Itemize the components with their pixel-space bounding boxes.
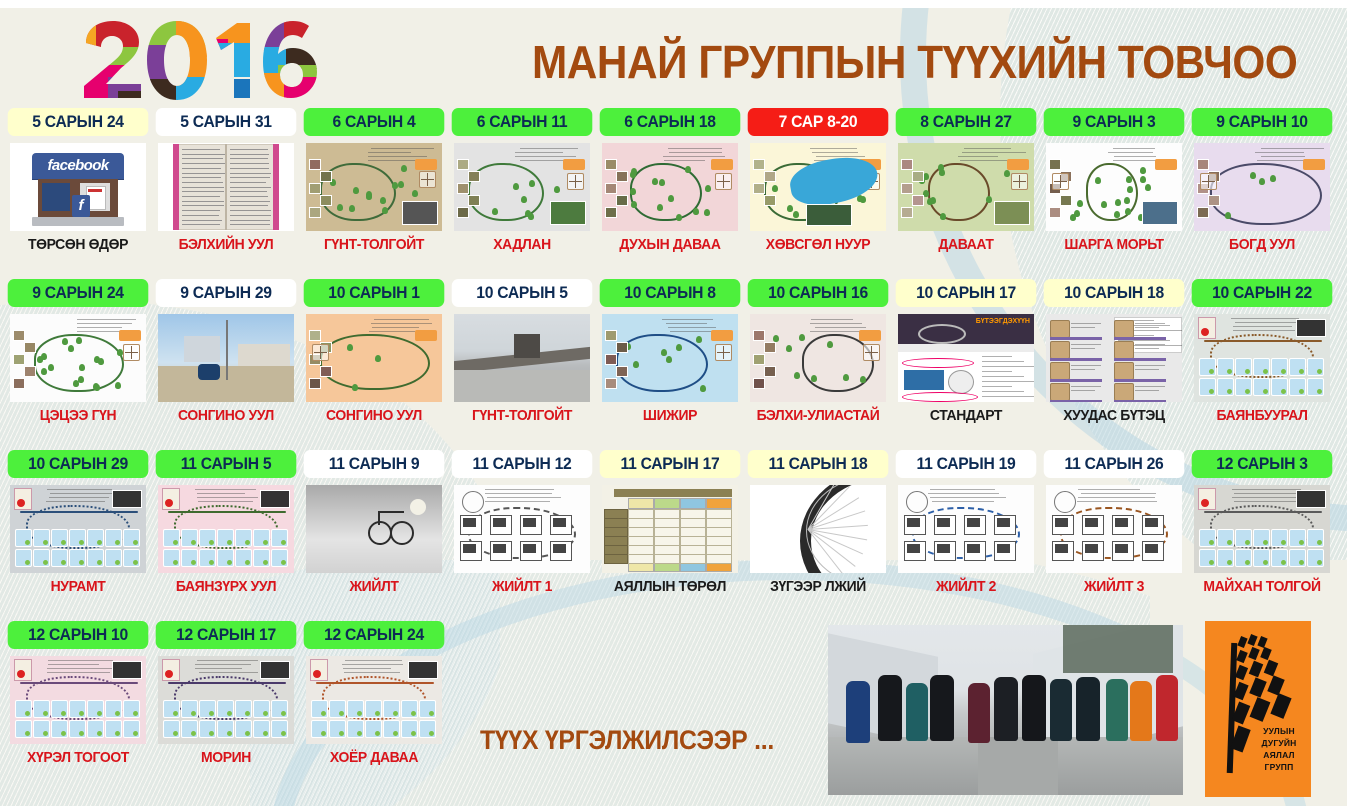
entry-caption: ЦЭЦЭЭ ГҮН bbox=[9, 407, 147, 424]
thumbnail-map-white2[interactable] bbox=[10, 314, 146, 402]
history-cell[interactable]: 10 САРЫН 1СОНГИНО УУЛ bbox=[300, 279, 448, 424]
entry-caption: ХОЁР ДАВАА bbox=[305, 749, 443, 766]
entry-caption: ХУУДАС БҮТЭЦ bbox=[1045, 407, 1183, 424]
history-cell[interactable]: 6 САРЫН 4ГҮНТ-ТОЛГОЙТ bbox=[300, 108, 448, 253]
thumbnail-wrapper bbox=[1040, 142, 1188, 232]
entry-caption: ХҮРЭЛ ТОГООТ bbox=[9, 749, 147, 766]
thumbnail-map-cards-pink[interactable] bbox=[158, 485, 294, 573]
entry-caption: ДАВААТ bbox=[897, 236, 1035, 253]
date-badge: 12 САРЫН 17 bbox=[156, 621, 297, 649]
entry-caption: ЖИЙЛТ 2 bbox=[897, 578, 1035, 595]
brand-logo-text: УУЛЫНДУГУЙНАЯЛАЛГРУПП bbox=[1251, 725, 1307, 773]
date-badge: 10 САРЫН 22 bbox=[1192, 279, 1333, 307]
entry-caption: ХАДЛАН bbox=[453, 236, 591, 253]
thumbnail-wrapper bbox=[1188, 142, 1336, 232]
history-cell[interactable]: 7 САР 8-20ХӨВСГӨЛ НУУР bbox=[744, 108, 892, 253]
history-cell[interactable]: 12 САРЫН 3МАЙХАН ТОЛГОЙ bbox=[1188, 450, 1336, 595]
thumbnail-photo-snowbike[interactable] bbox=[306, 485, 442, 573]
date-badge: 10 САРЫН 29 bbox=[8, 450, 149, 478]
entry-caption: ШАРГА МОРЬТ bbox=[1045, 236, 1183, 253]
entry-caption: АЯЛЛЫН ТӨРӨЛ bbox=[601, 578, 739, 595]
thumbnail-wrapper bbox=[152, 484, 300, 574]
thumbnail-wrapper bbox=[448, 142, 596, 232]
entry-caption: ЖИЙЛТ bbox=[305, 578, 443, 595]
entry-caption: ТӨРСӨН ӨДӨР bbox=[9, 236, 147, 253]
history-cell[interactable]: 6 САРЫН 18ДУХЫН ДАВАА bbox=[596, 108, 744, 253]
thumbnail-wrapper bbox=[4, 655, 152, 745]
history-cell[interactable]: 12 САРЫН 24ХОЁР ДАВАА bbox=[300, 621, 448, 766]
thumbnail-wrapper bbox=[300, 655, 448, 745]
thumbnail-wrapper bbox=[744, 142, 892, 232]
thumbnail-map-green[interactable] bbox=[898, 143, 1034, 231]
thumbnail-map-tan[interactable] bbox=[306, 143, 442, 231]
thumbnail-map-cards-grey[interactable] bbox=[158, 656, 294, 744]
entry-caption: ХӨВСГӨЛ НУУР bbox=[749, 236, 887, 253]
history-cell[interactable]: 12 САРЫН 10ХҮРЭЛ ТОГООТ bbox=[4, 621, 152, 766]
thumbnail-doc-grid[interactable] bbox=[1046, 314, 1182, 402]
thumbnail-map-orange[interactable] bbox=[306, 314, 442, 402]
history-cell[interactable]: 10 САРЫН 18ХУУДАС БҮТЭЦ bbox=[1040, 279, 1188, 424]
date-badge: 10 САРЫН 18 bbox=[1044, 279, 1185, 307]
entry-caption: ЗҮГЭЭР ЛЖИЙ bbox=[749, 578, 887, 595]
history-cell[interactable]: 11 САРЫН 17АЯЛЛЫН ТӨРӨЛ bbox=[596, 450, 744, 595]
group-photo bbox=[828, 625, 1183, 795]
date-badge: 10 САРЫН 5 bbox=[452, 279, 593, 307]
thumbnail-wrapper bbox=[744, 313, 892, 403]
history-cell[interactable]: 10 САРЫН 17БҮТЭЭГДЭХҮҮНСТАНДАРТ bbox=[892, 279, 1040, 424]
tail-text: ТҮҮХ ҮРГЭЛЖИЛСЭЭР ... bbox=[480, 725, 774, 756]
date-badge: 11 САРЫН 5 bbox=[156, 450, 297, 478]
date-badge: 10 САРЫН 8 bbox=[600, 279, 741, 307]
thumbnail-wrapper bbox=[152, 655, 300, 745]
top-white-bar bbox=[0, 0, 1347, 8]
thumbnail-map-mono-blue[interactable] bbox=[898, 485, 1034, 573]
entry-caption: ЖИЙЛТ 3 bbox=[1045, 578, 1183, 595]
thumbnail-map-white[interactable] bbox=[1046, 143, 1182, 231]
date-badge: 11 САРЫН 17 bbox=[600, 450, 741, 478]
history-cell[interactable]: 5 САРЫН 31БЭЛХИЙН УУЛ bbox=[152, 108, 300, 253]
thumbnail-wrapper bbox=[300, 142, 448, 232]
thumbnail-wrapper bbox=[4, 313, 152, 403]
history-cell[interactable]: 9 САРЫН 10БОГД УУЛ bbox=[1188, 108, 1336, 253]
date-badge: 10 САРЫН 16 bbox=[748, 279, 889, 307]
entry-caption: СОНГИНО УУЛ bbox=[157, 407, 295, 424]
thumbnail-wrapper bbox=[152, 313, 300, 403]
thumbnail-map-pink[interactable] bbox=[602, 143, 738, 231]
history-cell[interactable]: 10 САРЫН 5ГҮНТ-ТОЛГОЙТ bbox=[448, 279, 596, 424]
thumbnail-photo-tire[interactable] bbox=[750, 485, 886, 573]
date-badge: 6 САРЫН 11 bbox=[452, 108, 593, 136]
entry-caption: БАЯНБУУРАЛ bbox=[1193, 407, 1331, 424]
entry-caption: ГҮНТ-ТОЛГОЙТ bbox=[305, 236, 443, 253]
thumbnail-wrapper bbox=[1040, 484, 1188, 574]
entry-caption: СОНГИНО УУЛ bbox=[305, 407, 443, 424]
date-badge: 11 САРЫН 9 bbox=[304, 450, 445, 478]
thumbnail-map-grey[interactable] bbox=[454, 143, 590, 231]
thumbnail-map-lilac[interactable] bbox=[1194, 143, 1330, 231]
thumbnail-map-cards[interactable] bbox=[1194, 314, 1330, 402]
history-cell[interactable]: 11 САРЫН 12ЖИЙЛТ 1 bbox=[448, 450, 596, 595]
thumbnail-photo-city[interactable] bbox=[158, 314, 294, 402]
entry-caption: БОГД УУЛ bbox=[1193, 236, 1331, 253]
thumbnail-map-lake[interactable] bbox=[750, 143, 886, 231]
thumbnail-photo-snowroad[interactable] bbox=[454, 314, 590, 402]
thumbnail-wrapper bbox=[892, 142, 1040, 232]
entry-caption: БЭЛХИЙН УУЛ bbox=[157, 236, 295, 253]
entry-caption: БАЯНЗҮРХ УУЛ bbox=[157, 578, 295, 595]
history-cell[interactable]: 11 САРЫН 26ЖИЙЛТ 3 bbox=[1040, 450, 1188, 595]
date-badge: 8 САРЫН 27 bbox=[896, 108, 1037, 136]
thumbnail-map-cards3[interactable] bbox=[1194, 485, 1330, 573]
history-cell[interactable]: 9 САРЫН 24ЦЭЦЭЭ ГҮН bbox=[4, 279, 152, 424]
thumbnail-map-cards2[interactable] bbox=[10, 485, 146, 573]
entry-caption: ЖИЙЛТ 1 bbox=[453, 578, 591, 595]
history-cell[interactable]: 10 САРЫН 8ШИЖИР bbox=[596, 279, 744, 424]
history-cell[interactable]: 10 САРЫН 29НУРАМТ bbox=[4, 450, 152, 595]
history-cell[interactable]: 8 САРЫН 27ДАВААТ bbox=[892, 108, 1040, 253]
thumbnail-wrapper bbox=[596, 484, 744, 574]
history-cell[interactable]: 11 САРЫН 18ЗҮГЭЭР ЛЖИЙ bbox=[744, 450, 892, 595]
history-cell[interactable]: 11 САРЫН 5БАЯНЗҮРХ УУЛ bbox=[152, 450, 300, 595]
thumbnail-wrapper bbox=[596, 142, 744, 232]
date-badge: 5 САРЫН 24 bbox=[8, 108, 149, 136]
date-badge: 12 САРЫН 3 bbox=[1192, 450, 1333, 478]
thumbnail-wrapper bbox=[744, 484, 892, 574]
thumbnail-notebook[interactable] bbox=[158, 143, 294, 231]
history-cell[interactable]: 9 САРЫН 3ШАРГА МОРЬТ bbox=[1040, 108, 1188, 253]
history-cell[interactable]: 11 САРЫН 9ЖИЙЛТ bbox=[300, 450, 448, 595]
brand-logo: УУЛЫНДУГУЙНАЯЛАЛГРУПП bbox=[1205, 621, 1311, 797]
thumbnail-wrapper: БҮТЭЭГДЭХҮҮН bbox=[892, 313, 1040, 403]
thumbnail-wrapper: facebookf bbox=[4, 142, 152, 232]
history-cell[interactable]: 9 САРЫН 29СОНГИНО УУЛ bbox=[152, 279, 300, 424]
entry-caption: НУРАМТ bbox=[9, 578, 147, 595]
thumbnail-facebook-shop[interactable]: facebookf bbox=[10, 143, 146, 231]
entry-caption: ШИЖИР bbox=[601, 407, 739, 424]
date-badge: 5 САРЫН 31 bbox=[156, 108, 297, 136]
thumbnail-wrapper bbox=[300, 313, 448, 403]
history-cell[interactable]: 10 САРЫН 22БАЯНБУУРАЛ bbox=[1188, 279, 1336, 424]
date-badge: 9 САРЫН 29 bbox=[156, 279, 297, 307]
date-badge: 6 САРЫН 18 bbox=[600, 108, 741, 136]
history-cell[interactable]: 10 САРЫН 16БЭЛХИ-УЛИАСТАЙ bbox=[744, 279, 892, 424]
thumbnail-web-page[interactable]: БҮТЭЭГДЭХҮҮН bbox=[898, 314, 1034, 402]
date-badge: 12 САРЫН 10 bbox=[8, 621, 149, 649]
entry-caption: ГҮНТ-ТОЛГОЙТ bbox=[453, 407, 591, 424]
thumbnail-wrapper bbox=[892, 484, 1040, 574]
thumbnail-map-blue[interactable] bbox=[602, 314, 738, 402]
history-cell[interactable]: 12 САРЫН 17МОРИН bbox=[152, 621, 300, 766]
thumbnail-wrapper bbox=[1040, 313, 1188, 403]
date-badge: 11 САРЫН 12 bbox=[452, 450, 593, 478]
date-badge: 6 САРЫН 4 bbox=[304, 108, 445, 136]
date-badge: 7 САР 8-20 bbox=[748, 108, 889, 136]
date-badge: 11 САРЫН 26 bbox=[1044, 450, 1185, 478]
date-badge: 10 САРЫН 1 bbox=[304, 279, 445, 307]
thumbnail-wrapper bbox=[152, 142, 300, 232]
entry-caption: БЭЛХИ-УЛИАСТАЙ bbox=[749, 407, 887, 424]
thumbnail-wrapper bbox=[4, 484, 152, 574]
date-badge: 12 САРЫН 24 bbox=[304, 621, 445, 649]
date-badge: 11 САРЫН 18 bbox=[748, 450, 889, 478]
thumbnail-wrapper bbox=[300, 484, 448, 574]
history-cell[interactable]: 11 САРЫН 19ЖИЙЛТ 2 bbox=[892, 450, 1040, 595]
thumbnail-map-cards4[interactable] bbox=[306, 656, 442, 744]
thumbnail-map-mono[interactable] bbox=[454, 485, 590, 573]
history-cell[interactable]: 5 САРЫН 24facebookfТӨРСӨН ӨДӨР bbox=[4, 108, 152, 253]
thumbnail-map-mono-brown[interactable] bbox=[1046, 485, 1182, 573]
entry-caption: СТАНДАРТ bbox=[897, 407, 1035, 424]
thumbnail-wrapper bbox=[1188, 313, 1336, 403]
page-title: МАНАЙ ГРУППЫН ТҮҮХИЙН ТОВЧОО bbox=[532, 32, 1268, 92]
year-logo-2016 bbox=[78, 17, 318, 102]
thumbnail-map-cards-pink2[interactable] bbox=[10, 656, 146, 744]
thumbnail-wrapper bbox=[596, 313, 744, 403]
date-badge: 9 САРЫН 3 bbox=[1044, 108, 1185, 136]
date-badge: 11 САРЫН 19 bbox=[896, 450, 1037, 478]
entry-caption: МАЙХАН ТОЛГОЙ bbox=[1193, 578, 1331, 595]
thumbnail-wrapper bbox=[448, 313, 596, 403]
entry-caption: ДУХЫН ДАВАА bbox=[601, 236, 739, 253]
entry-caption: МОРИН bbox=[157, 749, 295, 766]
thumbnail-wrapper bbox=[448, 484, 596, 574]
thumbnail-table-chart[interactable] bbox=[602, 485, 738, 573]
date-badge: 10 САРЫН 17 bbox=[896, 279, 1037, 307]
thumbnail-map-beige[interactable] bbox=[750, 314, 886, 402]
date-badge: 9 САРЫН 24 bbox=[8, 279, 149, 307]
thumbnail-wrapper bbox=[1188, 484, 1336, 574]
history-cell[interactable]: 6 САРЫН 11ХАДЛАН bbox=[448, 108, 596, 253]
date-badge: 9 САРЫН 10 bbox=[1192, 108, 1333, 136]
